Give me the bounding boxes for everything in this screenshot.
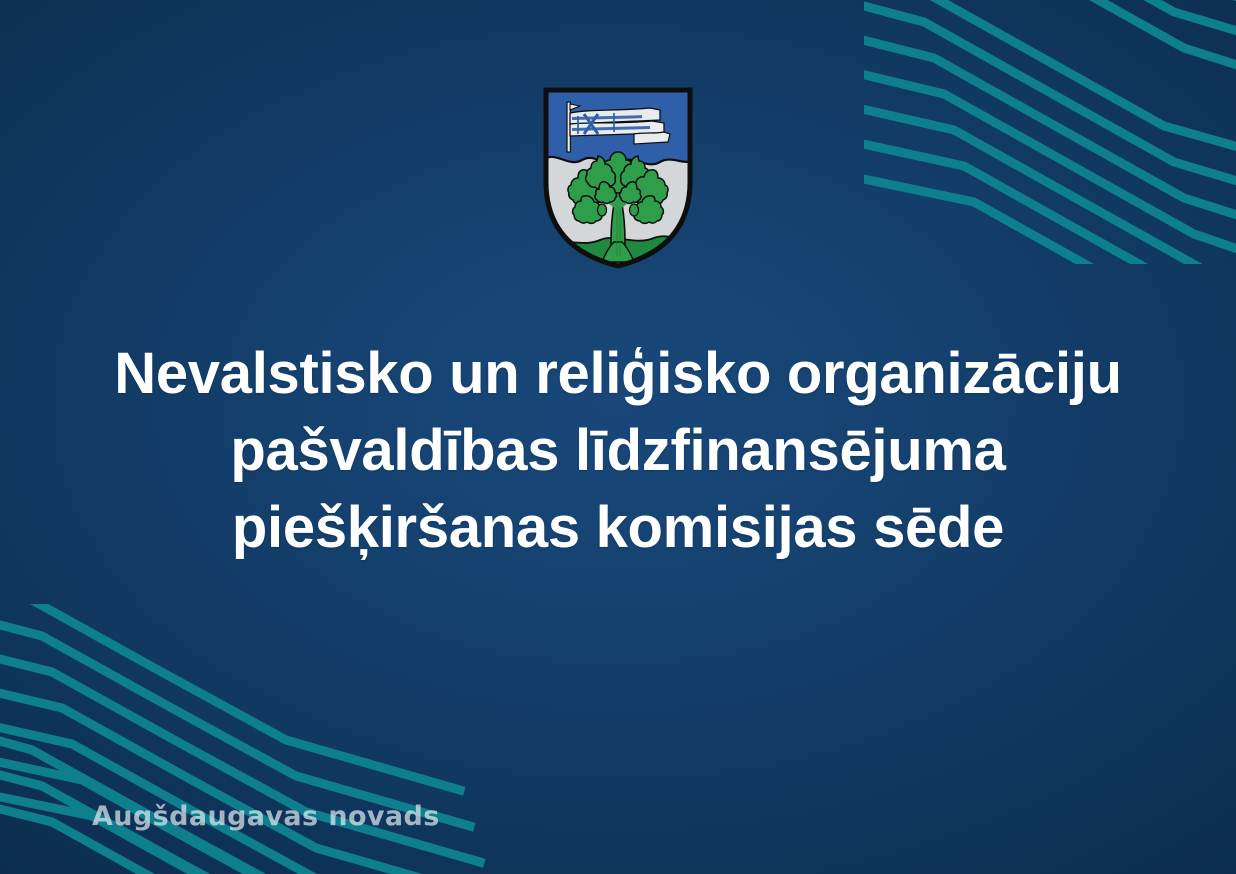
announcement-slide: Nevalstisko un reliģisko organizāciju pa…: [0, 0, 1236, 874]
slide-title: Nevalstisko un reliģisko organizāciju pa…: [0, 335, 1236, 566]
title-line-3: piešķiršanas komisijas sēde: [56, 489, 1180, 566]
decorative-chevron-top-right: [864, 0, 1236, 264]
decorative-chevron-bottom-left: [0, 604, 520, 874]
title-line-1: Nevalstisko un reliģisko organizāciju: [56, 335, 1180, 412]
title-line-2: pašvaldības līdzfinansējuma: [56, 412, 1180, 489]
coat-of-arms-icon: [542, 86, 694, 270]
watermark-municipality-name: Augšdaugavas novads: [92, 801, 440, 832]
